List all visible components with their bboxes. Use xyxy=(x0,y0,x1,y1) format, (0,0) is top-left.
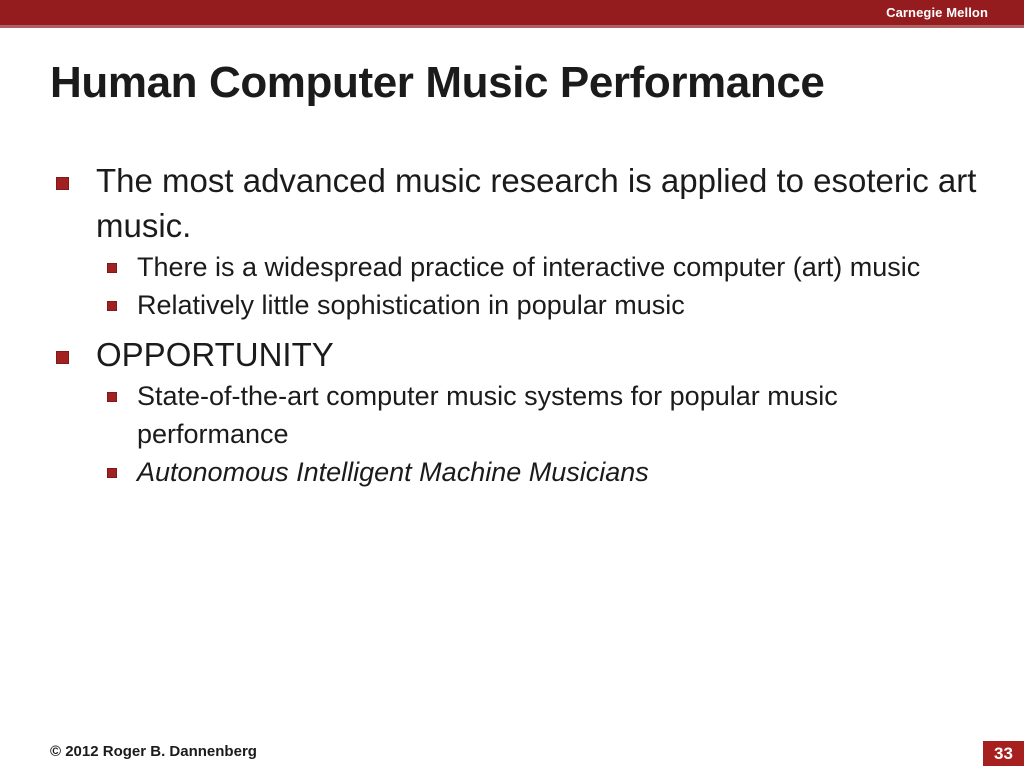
square-bullet-icon xyxy=(56,351,69,364)
bullet-level2-label: State-of-the-art computer music systems … xyxy=(137,377,980,453)
bullet-level1: The most advanced music research is appl… xyxy=(50,158,980,248)
small-square-bullet-icon xyxy=(107,301,117,311)
bullet-level1-label: The most advanced music research is appl… xyxy=(96,158,980,248)
page-title: Human Computer Music Performance xyxy=(50,57,990,109)
bullet-level2-label: There is a widespread practice of intera… xyxy=(137,248,980,286)
bullet-level2: State-of-the-art computer music systems … xyxy=(50,377,980,453)
group-spacer xyxy=(50,324,980,332)
header-underline xyxy=(0,25,1024,28)
page-number-badge: 33 xyxy=(983,741,1024,766)
bullet-list: The most advanced music research is appl… xyxy=(50,158,980,491)
bullet-level1-label: OPPORTUNITY xyxy=(96,332,980,377)
small-square-bullet-icon xyxy=(107,392,117,402)
footer-copyright: © 2012 Roger B. Dannenberg xyxy=(50,742,257,762)
bullet-level1: OPPORTUNITY xyxy=(50,332,980,377)
brand-carnegie-mellon: Carnegie Mellon xyxy=(886,4,988,21)
square-bullet-icon xyxy=(56,177,69,190)
slide: Carnegie Mellon Human Computer Music Per… xyxy=(0,0,1024,768)
small-square-bullet-icon xyxy=(107,263,117,273)
bullet-level2: There is a widespread practice of intera… xyxy=(50,248,980,286)
small-square-bullet-icon xyxy=(107,468,117,478)
bullet-level2-label: Autonomous Intelligent Machine Musicians xyxy=(137,453,980,491)
header-bar xyxy=(0,0,1024,25)
bullet-level2: Relatively little sophistication in popu… xyxy=(50,286,980,324)
bullet-level2: Autonomous Intelligent Machine Musicians xyxy=(50,453,980,491)
bullet-level2-label: Relatively little sophistication in popu… xyxy=(137,286,980,324)
